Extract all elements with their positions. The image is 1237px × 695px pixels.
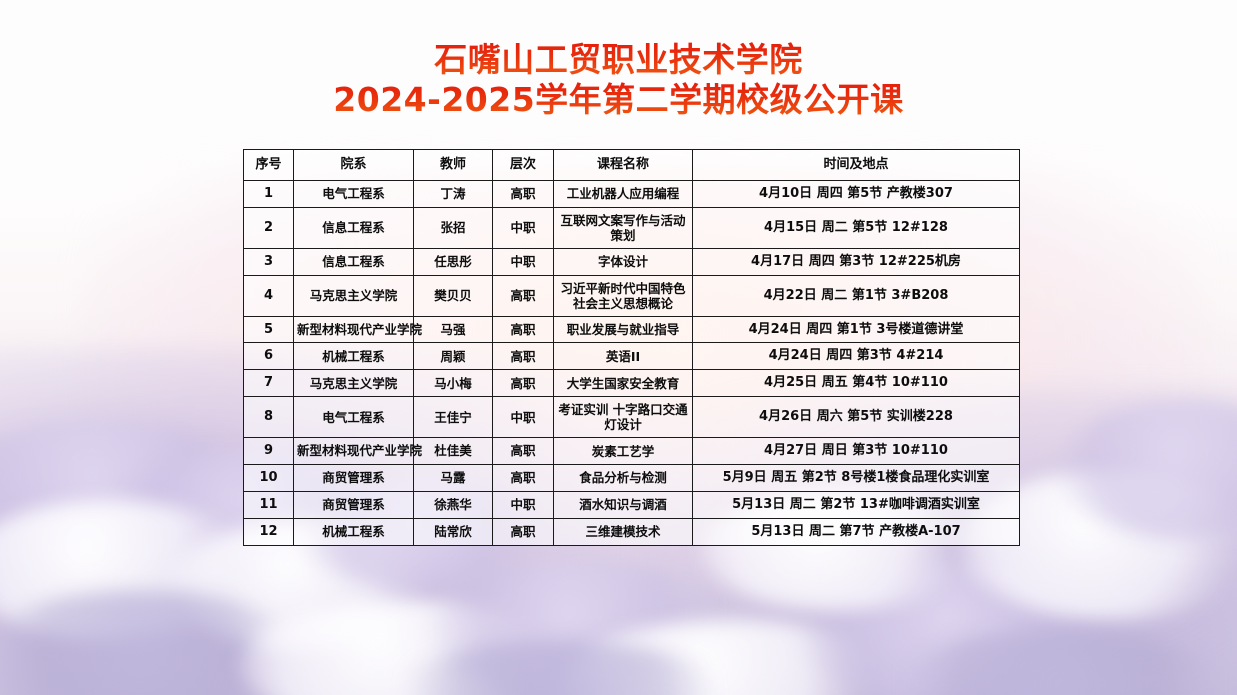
- cell-department: 信息工程系: [294, 207, 414, 248]
- cell-teacher: 陆常欣: [414, 518, 493, 545]
- cell-teacher: 周颖: [414, 343, 493, 370]
- column-header-course: 课程名称: [554, 150, 693, 181]
- cell-department: 机械工程系: [294, 343, 414, 370]
- cell-index: 3: [244, 248, 294, 275]
- cell-level: 高职: [493, 370, 554, 397]
- table-row: 11商贸管理系徐燕华中职酒水知识与调酒5月13日 周二 第2节 13#咖啡调酒实…: [244, 491, 1020, 518]
- cell-teacher: 樊贝贝: [414, 275, 493, 316]
- cell-course: 职业发展与就业指导: [554, 316, 693, 343]
- cell-level: 高职: [493, 465, 554, 492]
- table-row: 2信息工程系张招中职互联网文案写作与活动策划4月15日 周二 第5节 12#12…: [244, 207, 1020, 248]
- cell-course: 炭素工艺学: [554, 438, 693, 465]
- cell-level: 中职: [493, 491, 554, 518]
- table-row: 7马克思主义学院马小梅高职大学生国家安全教育4月25日 周五 第4节 10#11…: [244, 370, 1020, 397]
- cell-time-place: 4月26日 周六 第5节 实训楼228: [693, 397, 1020, 438]
- cell-department: 马克思主义学院: [294, 370, 414, 397]
- table-row: 1电气工程系丁涛高职工业机器人应用编程4月10日 周四 第5节 产教楼307: [244, 180, 1020, 207]
- cell-department: 新型材料现代产业学院: [294, 438, 414, 465]
- cell-index: 9: [244, 438, 294, 465]
- title-line-1: 石嘴山工贸职业技术学院: [0, 40, 1237, 80]
- cell-teacher: 王佳宁: [414, 397, 493, 438]
- cell-time-place: 5月9日 周五 第2节 8号楼1楼食品理化实训室: [693, 465, 1020, 492]
- cell-time-place: 4月25日 周五 第4节 10#110: [693, 370, 1020, 397]
- cell-level: 高职: [493, 438, 554, 465]
- cell-level: 高职: [493, 180, 554, 207]
- cell-index: 8: [244, 397, 294, 438]
- table-row: 6机械工程系周颖高职英语II4月24日 周四 第3节 4#214: [244, 343, 1020, 370]
- column-header-level: 层次: [493, 150, 554, 181]
- cell-department: 电气工程系: [294, 180, 414, 207]
- table-header-row: 序号 院系 教师 层次 课程名称 时间及地点: [244, 150, 1020, 181]
- cell-index: 7: [244, 370, 294, 397]
- cell-course: 大学生国家安全教育: [554, 370, 693, 397]
- cell-course: 食品分析与检测: [554, 465, 693, 492]
- cell-time-place: 4月27日 周日 第3节 10#110: [693, 438, 1020, 465]
- table-row: 4马克思主义学院樊贝贝高职习近平新时代中国特色社会主义思想概论4月22日 周二 …: [244, 275, 1020, 316]
- cell-department: 商贸管理系: [294, 465, 414, 492]
- cell-course: 工业机器人应用编程: [554, 180, 693, 207]
- schedule-table-container: 序号 院系 教师 层次 课程名称 时间及地点 1电气工程系丁涛高职工业机器人应用…: [243, 149, 1019, 546]
- cell-department: 新型材料现代产业学院: [294, 316, 414, 343]
- table-row: 12机械工程系陆常欣高职三维建模技术5月13日 周二 第7节 产教楼A-107: [244, 518, 1020, 545]
- cell-course: 互联网文案写作与活动策划: [554, 207, 693, 248]
- cell-teacher: 徐燕华: [414, 491, 493, 518]
- cell-time-place: 4月17日 周四 第3节 12#225机房: [693, 248, 1020, 275]
- table-row: 9新型材料现代产业学院杜佳美高职炭素工艺学4月27日 周日 第3节 10#110: [244, 438, 1020, 465]
- cell-teacher: 马强: [414, 316, 493, 343]
- cell-time-place: 4月24日 周四 第3节 4#214: [693, 343, 1020, 370]
- cell-index: 1: [244, 180, 294, 207]
- cell-index: 4: [244, 275, 294, 316]
- cell-time-place: 5月13日 周二 第2节 13#咖啡调酒实训室: [693, 491, 1020, 518]
- cell-department: 商贸管理系: [294, 491, 414, 518]
- cell-teacher: 丁涛: [414, 180, 493, 207]
- cell-level: 高职: [493, 316, 554, 343]
- cell-time-place: 4月24日 周四 第1节 3号楼道德讲堂: [693, 316, 1020, 343]
- table-row: 10商贸管理系马露高职食品分析与检测5月9日 周五 第2节 8号楼1楼食品理化实…: [244, 465, 1020, 492]
- cell-time-place: 4月15日 周二 第5节 12#128: [693, 207, 1020, 248]
- cell-course: 考证实训 十字路口交通灯设计: [554, 397, 693, 438]
- column-header-department: 院系: [294, 150, 414, 181]
- table-body: 1电气工程系丁涛高职工业机器人应用编程4月10日 周四 第5节 产教楼3072信…: [244, 180, 1020, 545]
- cell-course: 酒水知识与调酒: [554, 491, 693, 518]
- cell-level: 高职: [493, 343, 554, 370]
- cell-teacher: 张招: [414, 207, 493, 248]
- cell-index: 5: [244, 316, 294, 343]
- cell-level: 高职: [493, 518, 554, 545]
- cell-department: 电气工程系: [294, 397, 414, 438]
- column-header-index: 序号: [244, 150, 294, 181]
- cell-department: 马克思主义学院: [294, 275, 414, 316]
- cell-index: 10: [244, 465, 294, 492]
- table-row: 3信息工程系任思彤中职字体设计4月17日 周四 第3节 12#225机房: [244, 248, 1020, 275]
- cell-index: 11: [244, 491, 294, 518]
- cell-teacher: 任思彤: [414, 248, 493, 275]
- cell-time-place: 4月22日 周二 第1节 3#B208: [693, 275, 1020, 316]
- public-class-schedule-table: 序号 院系 教师 层次 课程名称 时间及地点 1电气工程系丁涛高职工业机器人应用…: [243, 149, 1020, 546]
- cell-course: 习近平新时代中国特色社会主义思想概论: [554, 275, 693, 316]
- cell-level: 中职: [493, 248, 554, 275]
- cell-course: 三维建模技术: [554, 518, 693, 545]
- title-line-2: 2024-2025学年第二学期校级公开课: [0, 80, 1237, 120]
- cell-time-place: 4月10日 周四 第5节 产教楼307: [693, 180, 1020, 207]
- column-header-teacher: 教师: [414, 150, 493, 181]
- cell-course: 英语II: [554, 343, 693, 370]
- cell-teacher: 杜佳美: [414, 438, 493, 465]
- cell-index: 6: [244, 343, 294, 370]
- cell-teacher: 马露: [414, 465, 493, 492]
- cell-course: 字体设计: [554, 248, 693, 275]
- cell-level: 中职: [493, 207, 554, 248]
- cell-teacher: 马小梅: [414, 370, 493, 397]
- cell-level: 中职: [493, 397, 554, 438]
- column-header-time-place: 时间及地点: [693, 150, 1020, 181]
- cell-department: 机械工程系: [294, 518, 414, 545]
- cell-index: 12: [244, 518, 294, 545]
- cell-time-place: 5月13日 周二 第7节 产教楼A-107: [693, 518, 1020, 545]
- page-title: 石嘴山工贸职业技术学院 2024-2025学年第二学期校级公开课: [0, 40, 1237, 119]
- cell-level: 高职: [493, 275, 554, 316]
- table-row: 8电气工程系王佳宁中职考证实训 十字路口交通灯设计4月26日 周六 第5节 实训…: [244, 397, 1020, 438]
- cell-department: 信息工程系: [294, 248, 414, 275]
- cell-index: 2: [244, 207, 294, 248]
- table-row: 5新型材料现代产业学院马强高职职业发展与就业指导4月24日 周四 第1节 3号楼…: [244, 316, 1020, 343]
